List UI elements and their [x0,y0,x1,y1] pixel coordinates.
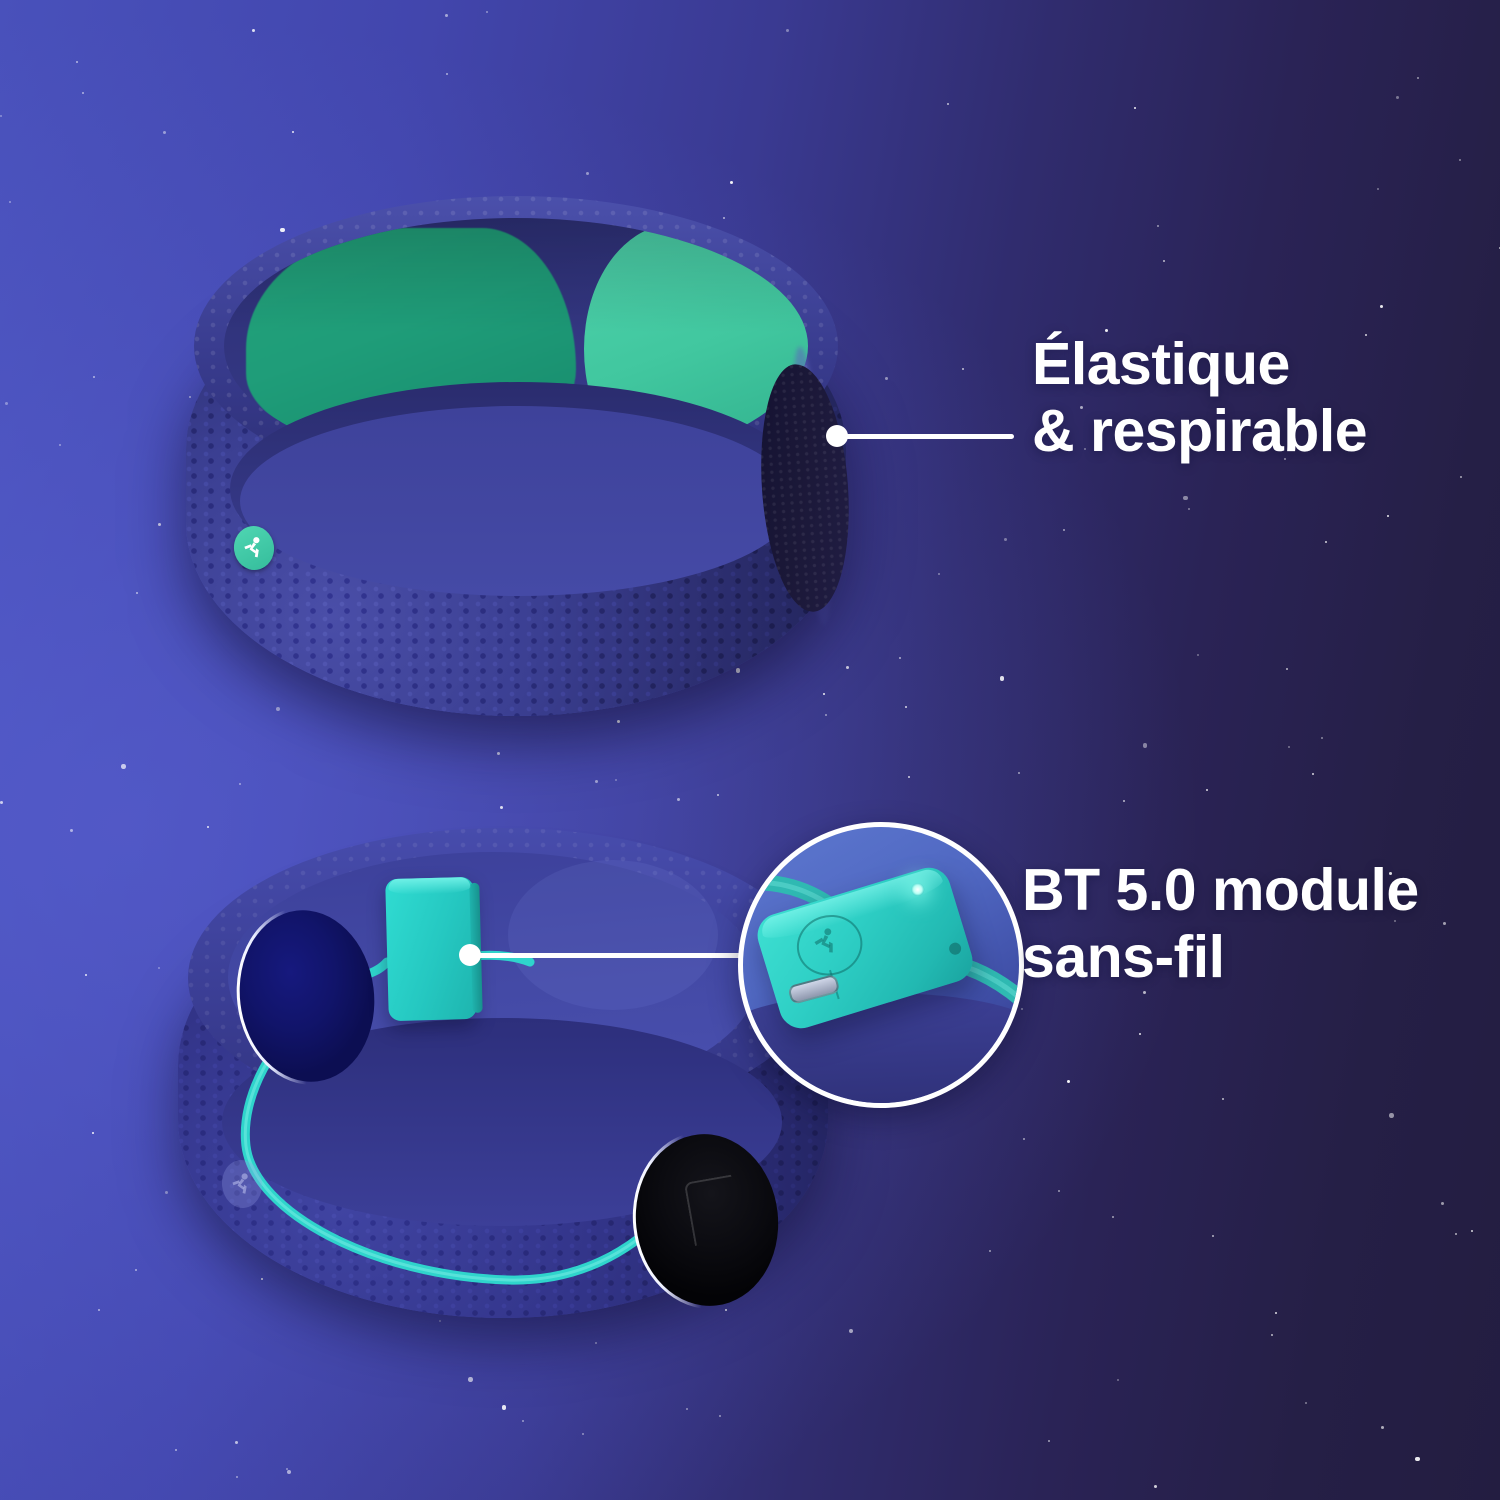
callout-elastic-line2: & respirable [1032,398,1367,465]
person-logo-icon [229,1168,256,1199]
magnified-bt-module [738,822,1024,1108]
leader-dot-elastic [826,425,848,447]
cord-entry-notch [948,941,963,956]
speaker-emboss-mark [684,1174,742,1245]
callout-bt-line1: BT 5.0 module [1022,857,1419,923]
callout-bt-module: BT 5.0 module sans-fil [1022,857,1419,992]
headband-top-view [186,196,846,736]
leader-line-module [470,953,765,958]
leader-line-elastic [836,434,1014,439]
person-logo-icon [240,533,267,562]
callout-bt-line2: sans-fil [1022,924,1419,991]
usb-c-port [787,974,840,1005]
callout-elastic-line1: Élastique [1032,331,1290,397]
headband-inner-floor [240,406,796,596]
infographic-canvas: Élastique & respirable [0,0,1500,1500]
leader-dot-module [459,944,481,966]
headband-bottom-view [178,828,828,1348]
module-top-bevel [388,877,470,895]
callout-elastic: Élastique & respirable [1032,331,1367,466]
ghost-liner-pad [508,860,718,1010]
